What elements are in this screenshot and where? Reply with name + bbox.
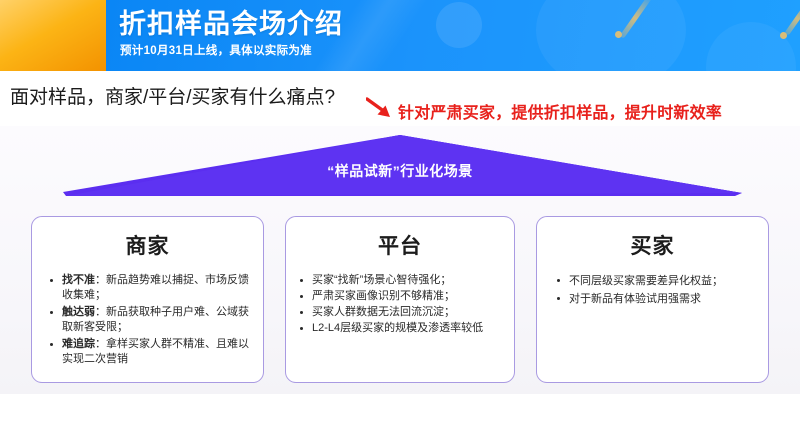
card-title: 商家 [32,230,263,260]
decorative-circle-icon [536,0,686,71]
card-title: 平台 [286,230,514,260]
industry-scene-label: “样品试新”行业化场景 [0,161,800,181]
page-title: 折扣样品会场介绍 [119,2,343,41]
comet-dot-icon [615,31,622,38]
list-item: 触达弱：新品获取种子用户难、公域获取新客受限； [62,305,257,335]
card-merchant: 商家 找不准：新品趋势难以捕捉、市场反馈收集难； 触达弱：新品获取种子用户难、公… [31,216,264,383]
list-item: 找不准：新品趋势难以捕捉、市场反馈收集难； [62,273,257,303]
card-title: 买家 [537,230,768,260]
comet-streak-icon [784,0,800,36]
header-orange-accent-block [0,0,106,71]
callout-text: 针对严肃买家，提供折扣样品，提升时新效率 [398,99,722,123]
comet-dot-icon [780,32,787,39]
red-arrow-down-right-icon [366,96,396,120]
card-buyer: 买家 不同层级买家需要差异化权益； 对于新品有体验试用强需求 [536,216,769,383]
list-item: 不同层级买家需要差异化权益； [569,273,760,290]
list-item: 难追踪：拿样买家人群不精准、且难以实现二次营销 [62,337,257,367]
list-item-text: 买家“找新”场景心智待强化； [312,274,451,286]
list-item: 严肃买家画像识别不够精准； [312,289,508,304]
decorative-circle-icon [706,22,796,71]
list-item-text: 严肃买家画像识别不够精准； [312,290,455,302]
list-item-text: 对于新品有体验试用强需求 [569,293,701,305]
pain-point-cards: 商家 找不准：新品趋势难以捕捉、市场反馈收集难； 触达弱：新品获取种子用户难、公… [0,216,800,386]
list-item-lead: 触达弱 [62,306,95,318]
card-bullet-list: 不同层级买家需要差异化权益； 对于新品有体验试用强需求 [537,273,768,308]
list-item: L2-L4层级买家的规模及渗透率较低 [312,321,508,336]
card-bullet-list: 买家“找新”场景心智待强化； 严肃买家画像识别不够精准； 买家人群数据无法回流沉… [286,273,514,336]
list-item-text: 买家人群数据无法回流沉淀； [312,306,455,318]
list-item-text: L2-L4层级买家的规模及渗透率较低 [312,322,483,334]
list-item: 买家人群数据无法回流沉淀； [312,305,508,320]
card-platform: 平台 买家“找新”场景心智待强化； 严肃买家画像识别不够精准； 买家人群数据无法… [285,216,515,383]
page-subtitle: 预计10月31日上线，具体以实际为准 [120,42,312,58]
page-header-banner: 折扣样品会场介绍 预计10月31日上线，具体以实际为准 [0,0,800,71]
list-item: 买家“找新”场景心智待强化； [312,273,508,288]
card-bullet-list: 找不准：新品趋势难以捕捉、市场反馈收集难； 触达弱：新品获取种子用户难、公域获取… [32,273,263,367]
list-item-text: 不同层级买家需要差异化权益； [569,275,723,287]
list-item-lead: 找不准 [62,274,95,286]
section-question-text: 面对样品，商家/平台/买家有什么痛点? [10,82,335,109]
list-item-lead: 难追踪 [62,338,95,350]
list-item: 对于新品有体验试用强需求 [569,291,760,308]
header-blue-background: 折扣样品会场介绍 预计10月31日上线，具体以实际为准 [106,0,800,71]
